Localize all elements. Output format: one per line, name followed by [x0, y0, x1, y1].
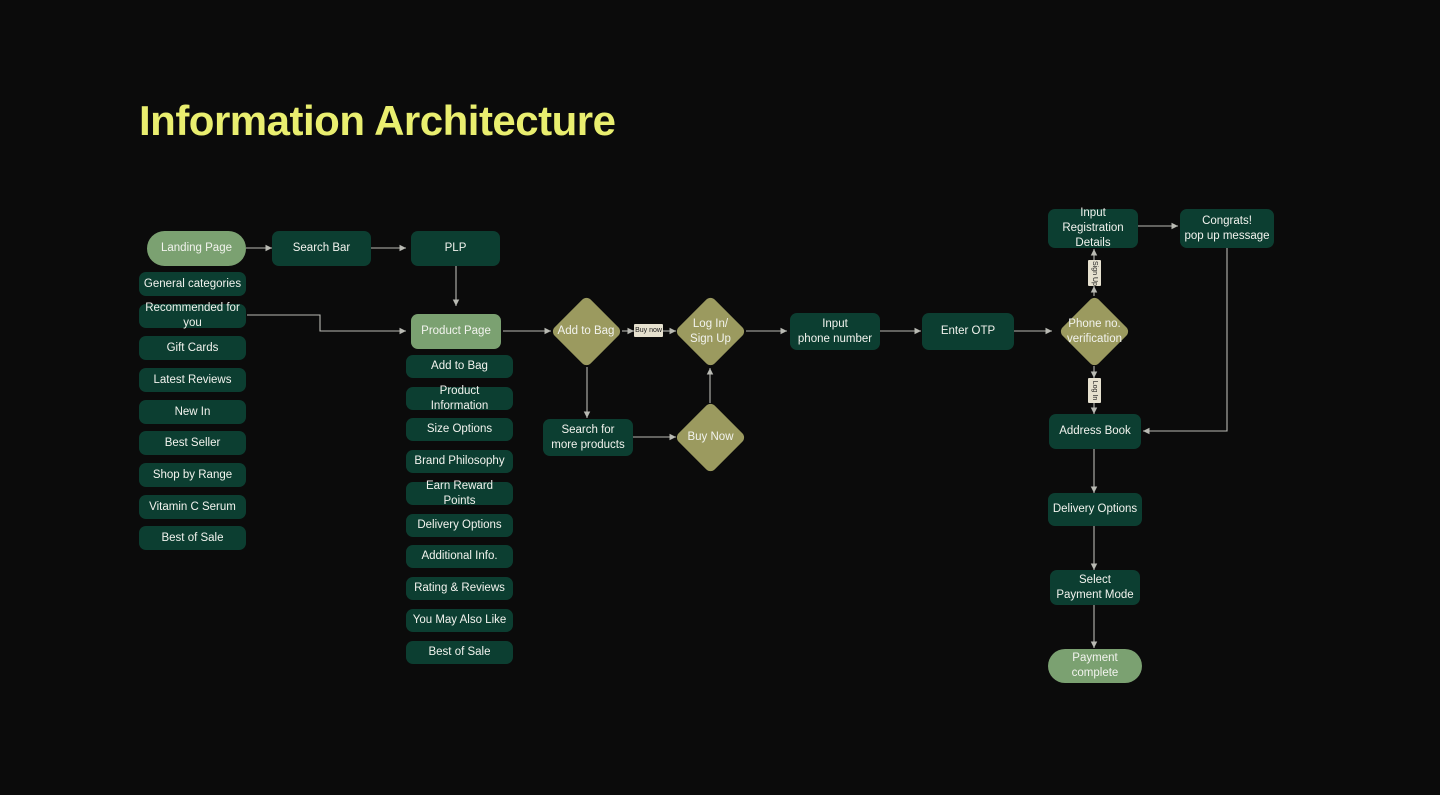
node-best-of-sale-landing[interactable]: Best of Sale	[139, 526, 246, 550]
node-input-registration-details[interactable]: Input Registration Details	[1048, 209, 1138, 248]
node-new-in[interactable]: New In	[139, 400, 246, 424]
node-address-book[interactable]: Address Book	[1049, 414, 1141, 449]
edge-label-log-in-text: Log In	[1091, 381, 1098, 400]
node-payment-complete[interactable]: Payment complete	[1048, 649, 1142, 683]
edge-congrats-to-addressbook	[1143, 248, 1227, 431]
node-product-page[interactable]: Product Page	[411, 314, 501, 349]
node-congrats-popup[interactable]: Congrats! pop up message	[1180, 209, 1274, 248]
node-best-seller[interactable]: Best Seller	[139, 431, 246, 455]
diamond-phone-verification[interactable]	[1058, 295, 1130, 367]
node-pp-additional-info[interactable]: Additional Info.	[406, 545, 513, 568]
page-title: Information Architecture	[139, 97, 616, 145]
node-pp-you-may-also-like[interactable]: You May Also Like	[406, 609, 513, 632]
diamond-log-in-sign-up[interactable]	[674, 295, 746, 367]
node-search-bar[interactable]: Search Bar	[272, 231, 371, 266]
node-delivery-options[interactable]: Delivery Options	[1048, 493, 1142, 526]
node-pp-delivery-options[interactable]: Delivery Options	[406, 514, 513, 537]
edge-label-sign-up: Sign Up	[1088, 260, 1101, 286]
node-pp-add-to-bag[interactable]: Add to Bag	[406, 355, 513, 378]
node-general-categories[interactable]: General categories	[139, 272, 246, 296]
node-vitamin-c-serum[interactable]: Vitamin C Serum	[139, 495, 246, 519]
node-pp-earn-reward-points[interactable]: Earn Reward Points	[406, 482, 513, 505]
node-shop-by-range[interactable]: Shop by Range	[139, 463, 246, 487]
node-pp-best-of-sale[interactable]: Best of Sale	[406, 641, 513, 664]
node-select-payment-mode[interactable]: Select Payment Mode	[1050, 570, 1140, 605]
edge-label-buy-now: Buy now	[634, 324, 663, 337]
edge-recommended-to-productpage	[247, 315, 406, 331]
diamond-add-to-bag[interactable]	[550, 295, 622, 367]
node-recommended-for-you[interactable]: Recommended for you	[139, 304, 246, 328]
diagram-canvas: Information Architecture	[0, 0, 1440, 795]
node-pp-brand-philosophy[interactable]: Brand Philosophy	[406, 450, 513, 473]
node-plp[interactable]: PLP	[411, 231, 500, 266]
diamond-buy-now[interactable]	[674, 401, 746, 473]
node-pp-rating-reviews[interactable]: Rating & Reviews	[406, 577, 513, 600]
node-landing-page[interactable]: Landing Page	[147, 231, 246, 266]
edge-label-sign-up-text: Sign Up	[1091, 261, 1098, 286]
node-search-for-more-products[interactable]: Search for more products	[543, 419, 633, 456]
node-latest-reviews[interactable]: Latest Reviews	[139, 368, 246, 392]
node-input-phone-number[interactable]: Input phone number	[790, 313, 880, 350]
node-enter-otp[interactable]: Enter OTP	[922, 313, 1014, 350]
node-gift-cards[interactable]: Gift Cards	[139, 336, 246, 360]
edge-label-log-in: Log In	[1088, 378, 1101, 403]
node-pp-product-information[interactable]: Product Information	[406, 387, 513, 410]
node-pp-size-options[interactable]: Size Options	[406, 418, 513, 441]
